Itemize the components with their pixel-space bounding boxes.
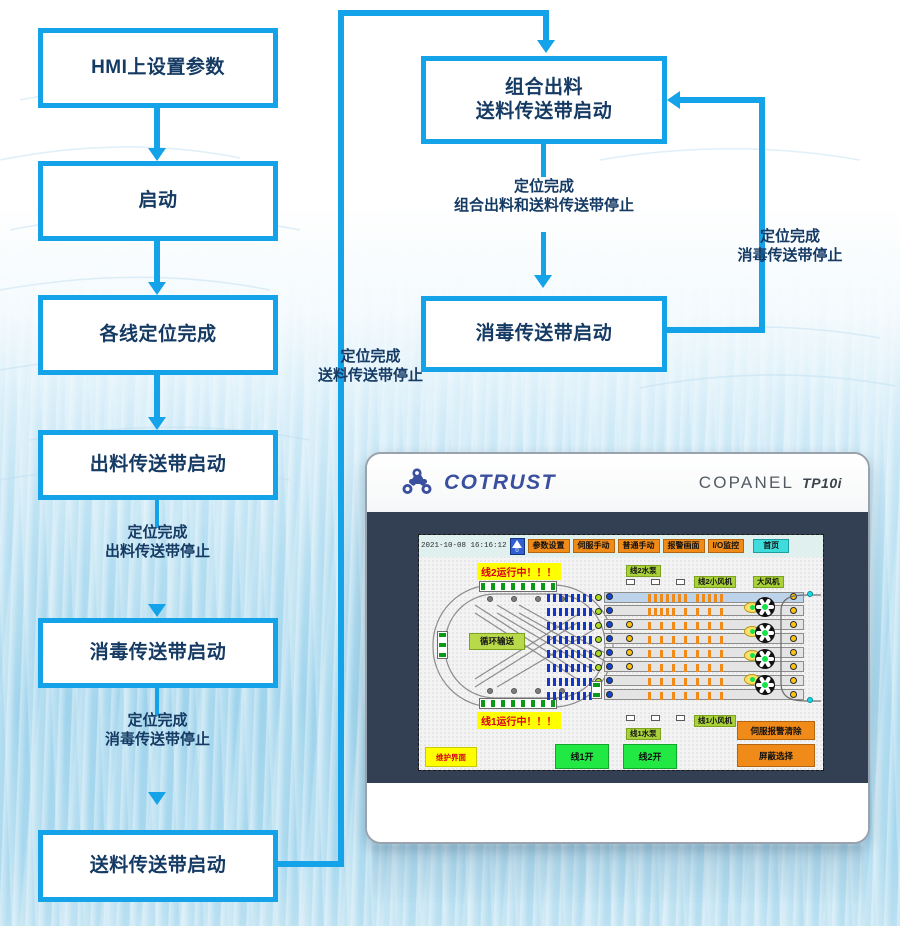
cart-icon	[676, 579, 685, 585]
tag-line1-small-fan: 线1小风机	[694, 715, 736, 727]
flow-box-feed-start[interactable]: 送料传送带启动	[38, 830, 278, 902]
track-node	[487, 688, 493, 694]
device-reflection	[372, 846, 864, 904]
big-fan-icon	[755, 597, 775, 617]
conveyor-cell-strip-bottom	[479, 698, 557, 709]
screen-button-home[interactable]: 首页	[753, 539, 789, 553]
arrow-down-to-sterilize-right	[534, 275, 552, 288]
big-fan-icon	[755, 649, 775, 669]
screen-button-servo-alarm-clear[interactable]: 伺服报警清除	[737, 721, 815, 740]
tag-line2-small-fan: 线2小风机	[694, 576, 736, 588]
screen-button-servo-manual[interactable]: 伺服手动	[573, 539, 615, 553]
tag-circular-conveying: 循环输送	[469, 633, 525, 650]
track-node	[487, 596, 493, 602]
screen-button-maintenance[interactable]: 维护界面	[425, 747, 477, 767]
connector-start-to-lines-positioned	[154, 241, 160, 287]
cart-icon	[626, 715, 635, 721]
screen-button-io-monitor[interactable]: I/O监控	[708, 539, 745, 553]
flow-box-start[interactable]: 启动	[38, 161, 278, 241]
connector-lines-positioned-to-discharge	[154, 375, 160, 421]
edge-label-discharge-stop: 定位完成 出料传送带停止	[55, 524, 260, 562]
flow-box-sterilize-start-left[interactable]: 消毒传送带启动	[38, 618, 278, 688]
connector-combo-to-sterilize-right-2	[541, 232, 546, 279]
track-node	[511, 596, 517, 602]
product-line-label: COPANEL	[699, 473, 794, 493]
track-node	[511, 688, 517, 694]
big-fan-icon	[755, 623, 775, 643]
screen-button-line1-on[interactable]: 线1开	[555, 744, 609, 769]
screen-button-alarm-screen[interactable]: 报警画面	[663, 539, 705, 553]
loop-feed-top-horizontal	[338, 10, 549, 16]
flow-box-label: 组合出料 送料传送带启动	[476, 76, 613, 124]
screen-button-shield-select[interactable]: 屏蔽选择	[737, 744, 815, 767]
flow-box-combo-discharge[interactable]: 组合出料 送料传送带启动	[421, 56, 667, 144]
flow-box-discharge-start[interactable]: 出料传送带启动	[38, 430, 278, 500]
flow-box-label: 启动	[138, 189, 177, 213]
cart-icon	[676, 715, 685, 721]
track-node	[535, 596, 541, 602]
screen-button-param-settings[interactable]: 参数设置	[528, 539, 570, 553]
loop-feed-horizontal-out	[278, 861, 344, 867]
tag-line1-pump: 线1水泵	[626, 728, 661, 740]
conveyor-cell-strip-top	[479, 581, 557, 592]
arrow-down-to-feed-start	[148, 792, 166, 805]
flow-box-set-params[interactable]: HMI上设置参数	[38, 28, 278, 108]
brand-name: COTRUST	[444, 471, 556, 495]
edge-label-sterilize-stop-left: 定位完成 消毒传送带停止	[55, 712, 260, 750]
alarm-warning-icon[interactable]: 0	[510, 538, 525, 555]
hmi-device: COTRUST COPANEL TP10i 2021-10-08 16:16:1…	[365, 452, 870, 844]
hmi-screen[interactable]: 2021-10-08 16:16:12 0 参数设置 伺服手动 普通手动 报警画…	[419, 535, 823, 770]
banner-line2-running: 线2运行中！！！	[477, 563, 561, 580]
cart-icon	[651, 715, 660, 721]
flow-box-label: 出料传送带启动	[90, 453, 227, 477]
tag-line2-pump: 线2水泵	[626, 565, 661, 577]
flow-box-label: 送料传送带启动	[90, 854, 227, 878]
device-footer-bar	[367, 783, 868, 842]
arrow-left-into-combo-box	[667, 91, 680, 109]
cotrust-logo-icon	[401, 468, 435, 498]
loop-sterilize-right-top-horizontal	[680, 97, 765, 103]
screen-button-normal-manual[interactable]: 普通手动	[618, 539, 660, 553]
flow-box-label: 消毒传送带启动	[90, 641, 227, 665]
big-fan-icon	[755, 675, 775, 695]
screen-toolbar: 2021-10-08 16:16:12 0 参数设置 伺服手动 普通手动 报警画…	[419, 535, 823, 557]
model-label: TP10i	[802, 475, 842, 491]
screen-button-line2-on[interactable]: 线2开	[623, 744, 677, 769]
cart-icon	[651, 579, 660, 585]
conveyor-cell-strip-left	[437, 631, 448, 659]
track-node	[535, 688, 541, 694]
brand-block: COTRUST	[401, 468, 556, 498]
screenshot-root: HMI上设置参数 启动 各线定位完成 出料传送带启动 定位完成 出料传送带停止 …	[0, 0, 900, 926]
edge-label-combo-stop: 定位完成 组合出料和送料传送带停止	[413, 178, 675, 216]
loop-sterilize-right-horizontal	[667, 327, 765, 333]
model-block: COPANEL TP10i	[699, 473, 842, 493]
arrow-down-into-combo-box	[537, 40, 555, 53]
connector-set-params-to-start	[154, 108, 160, 153]
flow-box-lines-positioned[interactable]: 各线定位完成	[38, 295, 278, 375]
flow-box-label: 消毒传送带启动	[476, 322, 613, 346]
screen-timestamp: 2021-10-08 16:16:12	[421, 542, 507, 550]
flow-box-label: 各线定位完成	[99, 323, 216, 347]
flow-box-sterilize-start-right[interactable]: 消毒传送带启动	[421, 296, 667, 372]
status-marker-strip	[591, 681, 602, 699]
indicator-lamp-cyan	[807, 697, 813, 703]
duct-pipe-graphic	[779, 583, 823, 715]
arrow-down-to-start	[148, 148, 166, 161]
arrow-down-to-lines-positioned	[148, 282, 166, 295]
cart-icon	[626, 579, 635, 585]
arrow-down-to-discharge-start	[148, 417, 166, 430]
alarm-count: 0	[515, 548, 518, 554]
connector-combo-to-sterilize-right	[541, 144, 546, 177]
screen-bezel: 2021-10-08 16:16:12 0 参数设置 伺服手动 普通手动 报警画…	[367, 512, 868, 787]
loop-feed-vertical-up	[338, 10, 344, 867]
flow-box-label: HMI上设置参数	[91, 56, 225, 80]
tag-big-fan: 大风机	[753, 576, 784, 588]
indicator-lamp-cyan	[807, 591, 813, 597]
loop-sterilize-right-vertical	[759, 97, 765, 333]
warning-triangle-icon	[512, 540, 522, 548]
edge-label-sterilize-stop-right: 定位完成 消毒传送带停止	[690, 228, 890, 266]
device-header-bar: COTRUST COPANEL TP10i	[367, 454, 868, 512]
arrow-down-to-sterilize-left	[148, 604, 166, 617]
